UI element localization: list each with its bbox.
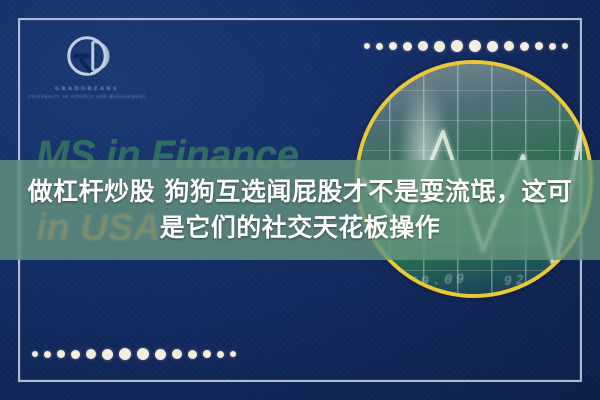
decorative-dot	[102, 349, 113, 360]
decorative-dot	[562, 43, 568, 49]
decorative-dot	[403, 42, 412, 51]
decorative-dot	[469, 40, 481, 52]
decorative-dot	[155, 349, 166, 360]
decorative-dot	[504, 41, 514, 51]
decorative-dot	[172, 349, 182, 359]
decorative-dot	[137, 348, 149, 360]
logo-subtitle-text: UNIVERSITY OF FINANCE AND MANAGEMENT	[28, 95, 146, 99]
decorative-dot	[364, 43, 370, 49]
decorative-dot	[188, 350, 197, 359]
decorative-dot	[119, 348, 131, 360]
decorative-dot	[203, 350, 211, 358]
decorative-dot	[57, 350, 65, 358]
decorative-dot	[520, 42, 529, 51]
decorative-dot	[389, 42, 397, 50]
decorative-dot	[32, 351, 38, 357]
decorative-dot	[44, 351, 51, 358]
decorative-dot	[376, 43, 383, 50]
decorative-dot	[451, 40, 463, 52]
gd-monogram-icon	[58, 32, 116, 80]
decorative-dot	[217, 351, 224, 358]
decorative-dot	[535, 42, 543, 50]
caption-line-2: 是它们的社交天花板操作	[160, 212, 441, 244]
dot-row-bottom	[32, 348, 236, 360]
logo-name-text: GRADORZANS	[28, 86, 146, 92]
decorative-dot	[549, 43, 556, 50]
decorative-dot	[71, 350, 80, 359]
decorative-dot	[230, 351, 236, 357]
decorative-dot	[418, 41, 428, 51]
poster-image: 0 79.09 92 72 GRADORZANS UNIVERSITY OF F…	[0, 0, 600, 400]
decorative-dot	[86, 349, 96, 359]
decorative-dot	[487, 41, 498, 52]
dot-row-top	[364, 40, 568, 52]
decorative-dot	[434, 41, 445, 52]
university-logo: GRADORZANS UNIVERSITY OF FINANCE AND MAN…	[28, 32, 146, 99]
caption-text: 做杠杆炒股 狗狗互选闻屁股才不是耍流氓，这可 是它们的社交天花板操作	[0, 160, 600, 260]
caption-line-1: 做杠杆炒股 狗狗互选闻屁股才不是耍流氓，这可	[28, 176, 573, 208]
